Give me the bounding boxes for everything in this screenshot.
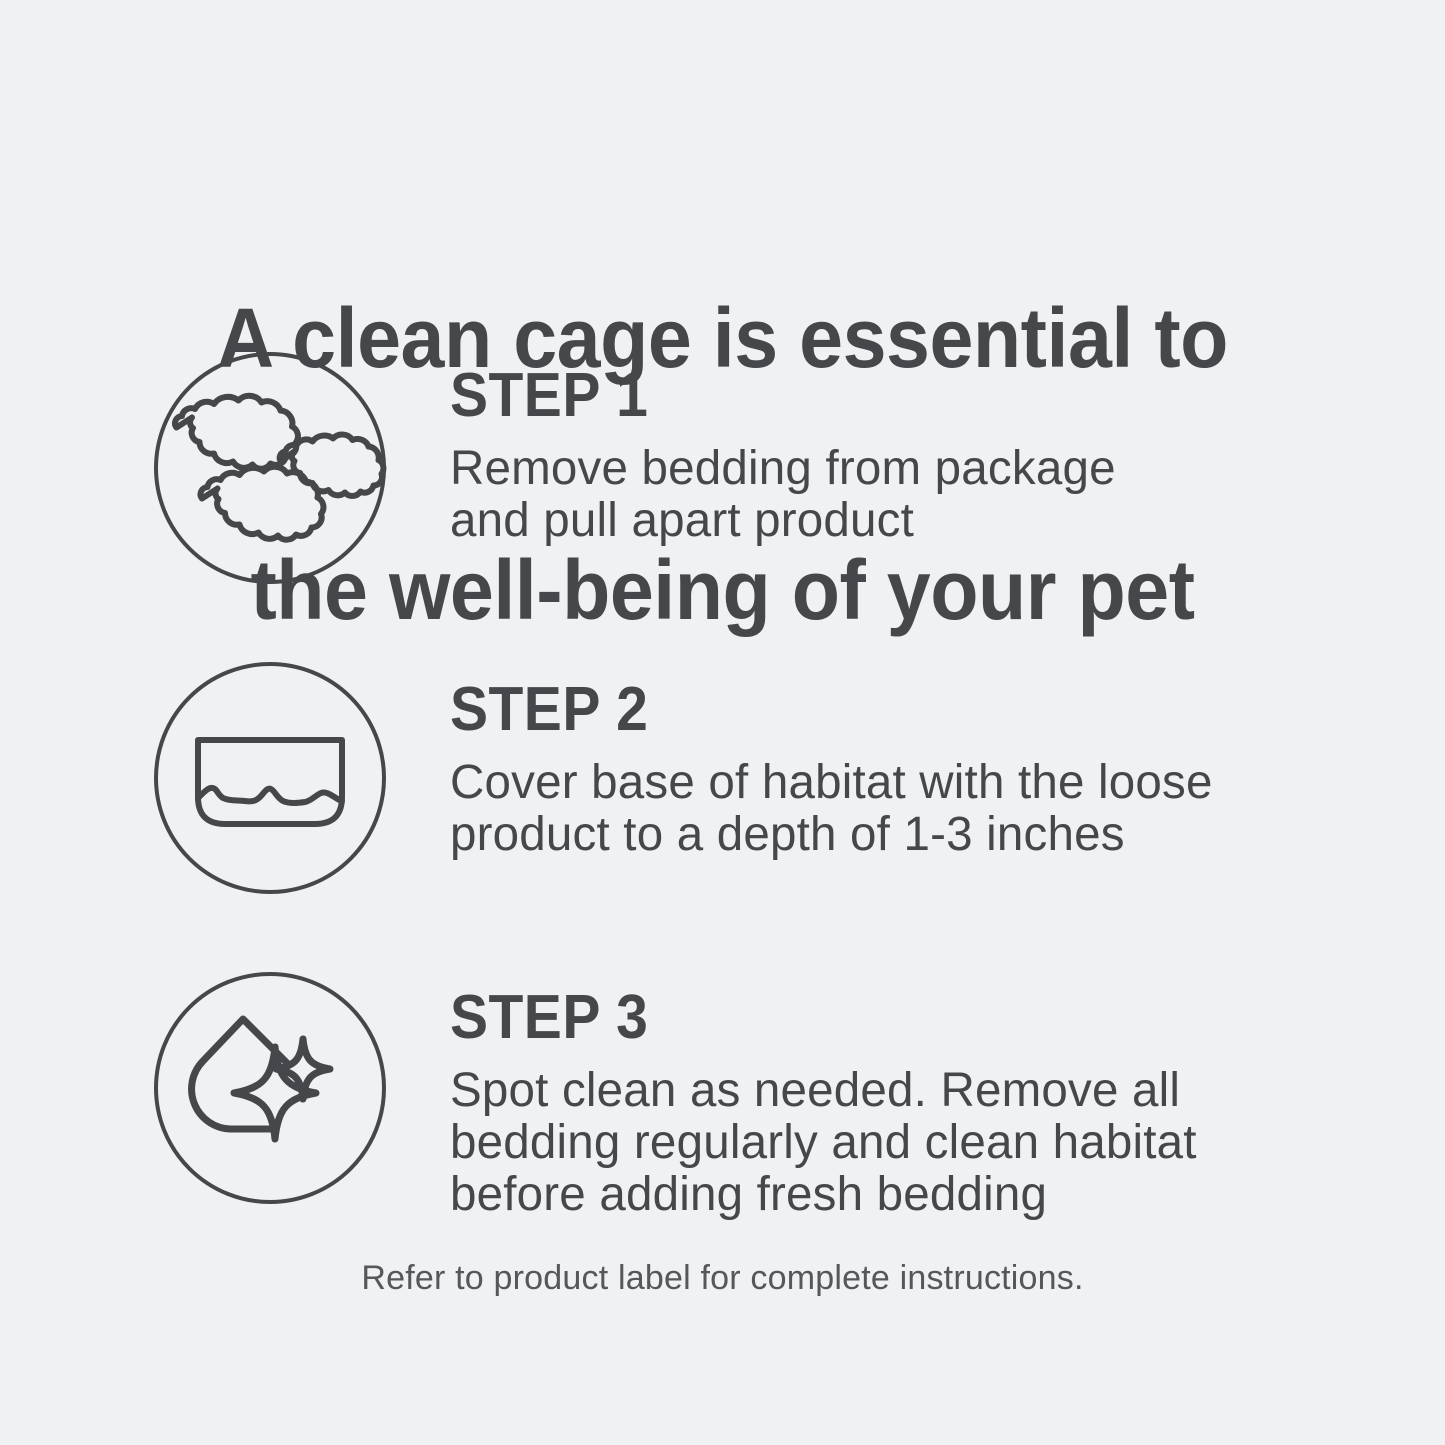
step-3-body: STEP 3 Spot clean as needed. Remove all … [450,987,1350,1221]
step-2-body: STEP 2 Cover base of habitat with the lo… [450,679,1350,861]
step-item-3: STEP 3 Spot clean as needed. Remove all … [0,965,1445,1275]
step-2-heading: STEP 2 [450,679,1278,741]
steps-list: STEP 1 Remove bedding from package and p… [0,345,1445,1275]
step-3-description: Spot clean as needed. Remove all bedding… [450,1065,1341,1221]
footer-note: Refer to product label for complete inst… [0,1258,1445,1298]
bedding-clouds-icon [153,351,387,585]
step-2-description: Cover base of habitat with the loose pro… [450,757,1341,861]
droplet-sparkle-icon [153,971,387,1205]
infographic-page: A clean cage is essential to the well-be… [0,0,1445,1445]
step-3-heading: STEP 3 [450,987,1278,1049]
step-item-1: STEP 1 Remove bedding from package and p… [0,345,1445,655]
step-1-description: Remove bedding from package and pull apa… [450,443,1341,547]
step-1-heading: STEP 1 [450,365,1278,427]
habitat-base-icon [153,661,387,895]
step-1-body: STEP 1 Remove bedding from package and p… [450,365,1350,547]
step-item-2: STEP 2 Cover base of habitat with the lo… [0,655,1445,965]
